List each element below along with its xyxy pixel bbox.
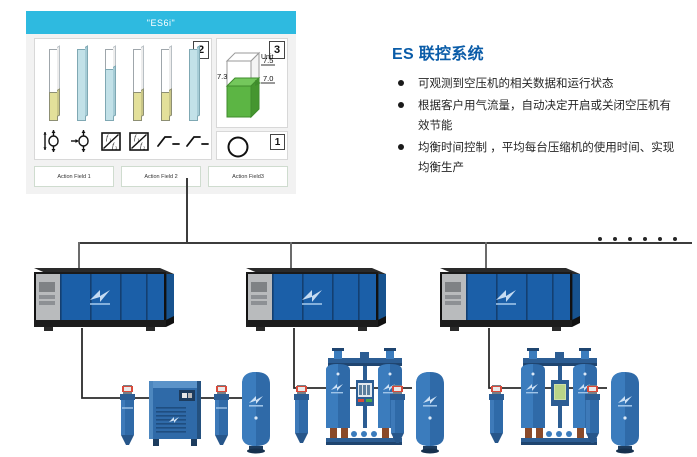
pressure-setpoint-icon[interactable] [70, 128, 94, 154]
continuation-dots [598, 234, 686, 244]
box-value-left: 7.3 [217, 72, 227, 81]
air-receiver-tank-2[interactable] [412, 370, 448, 454]
compressor-1[interactable] [28, 262, 178, 334]
inline-filter-3a[interactable] [487, 385, 507, 445]
bar-fill [77, 49, 86, 121]
info-block: ES 联控系统 可观测到空压机的相关数据和运行状态 根据客户用气流量，自动决定开… [392, 40, 680, 180]
hmi-panel: "ES6i" 2 [26, 11, 296, 194]
bullet-dot-icon [398, 144, 404, 150]
f1-f3-ratio-icon[interactable]: f 1 f 3 [99, 128, 123, 154]
bar-fill [49, 92, 58, 121]
inline-filter-3b[interactable] [583, 385, 603, 445]
inline-filter-2b[interactable] [388, 385, 408, 445]
bar-item [77, 49, 90, 121]
bullet-dot-icon [398, 80, 404, 86]
inline-filter-1a[interactable] [118, 385, 138, 447]
hmi-icon-row: f 1 f 3 f 1 f 2 [39, 125, 211, 157]
hmi-box-zone: 3 Unit 7.5 7.3 7.0 [216, 38, 288, 128]
bar-fill [161, 92, 170, 121]
dot [613, 237, 617, 241]
zone-marker-1: 1 [270, 134, 285, 150]
bar-item [161, 49, 174, 121]
status-circle-icon [225, 134, 251, 160]
bar-item [133, 49, 146, 121]
dot [628, 237, 632, 241]
dot [598, 237, 602, 241]
hmi-title-bar: "ES6i" [26, 11, 296, 34]
info-bullet: 根据客户用气流量，自动决定开启或关闭空压机有效节能 [392, 96, 680, 136]
bar-chart [41, 47, 209, 121]
bar-fill [105, 69, 114, 121]
info-bullet-text: 根据客户用气流量，自动决定开启或关闭空压机有效节能 [418, 100, 671, 132]
compressor-3[interactable] [434, 262, 584, 334]
bar-item [105, 49, 118, 121]
info-bullet-list: 可观测到空压机的相关数据和运行状态 根据客户用气流量，自动决定开启或关闭空压机有… [392, 74, 680, 178]
dot [658, 237, 662, 241]
box-value-top: 7.5 [263, 56, 273, 65]
bar-fill [189, 49, 198, 121]
hmi-chart-zone: 2 [34, 38, 212, 160]
svg-text:2: 2 [143, 146, 145, 151]
action-field-row: Action Field 1 Action Field 2 Action Fie… [34, 166, 288, 187]
pressure-band-icon[interactable] [41, 128, 65, 154]
bar-item [49, 49, 62, 121]
ramp-down-icon[interactable] [156, 128, 180, 154]
hmi-title-text: "ES6i" [147, 18, 175, 28]
info-bullet: 可观测到空压机的相关数据和运行状态 [392, 74, 680, 94]
svg-text:1: 1 [137, 138, 139, 143]
bar-item [189, 49, 202, 121]
hmi-circle-zone: 1 [216, 131, 288, 160]
info-bullet: 均衡时间控制 ，平均每台压缩机的使用时间、实现均衡生产 [392, 138, 680, 178]
compressor-2[interactable] [240, 262, 390, 334]
volume-box-graphic: Unit 7.5 7.3 7.0 [217, 39, 287, 127]
bus-drop-from-panel [186, 178, 188, 243]
air-receiver-tank-1[interactable] [238, 370, 274, 454]
svg-text:1: 1 [109, 138, 111, 143]
ramp-up-icon[interactable] [185, 128, 209, 154]
info-bullet-text: 可观测到空压机的相关数据和运行状态 [418, 78, 614, 90]
action-field-3[interactable]: Action Field3 [208, 166, 288, 187]
dot [643, 237, 647, 241]
inline-filter-2a[interactable] [292, 385, 312, 445]
air-receiver-tank-3[interactable] [607, 370, 643, 454]
action-field-1[interactable]: Action Field 1 [34, 166, 114, 187]
bullet-dot-icon [398, 102, 404, 108]
box-value-bottom: 7.0 [263, 74, 273, 83]
dot [673, 237, 677, 241]
bar-fill [133, 92, 142, 121]
info-bullet-text: 均衡时间控制 ，平均每台压缩机的使用时间、实现均衡生产 [418, 142, 674, 174]
action-field-2[interactable]: Action Field 2 [121, 166, 201, 187]
f1-f2-ratio-icon[interactable]: f 1 f 2 [127, 128, 151, 154]
inline-filter-1b[interactable] [212, 385, 232, 447]
info-title: ES 联控系统 [392, 40, 680, 64]
refrigerated-dryer-1[interactable] [147, 377, 203, 449]
